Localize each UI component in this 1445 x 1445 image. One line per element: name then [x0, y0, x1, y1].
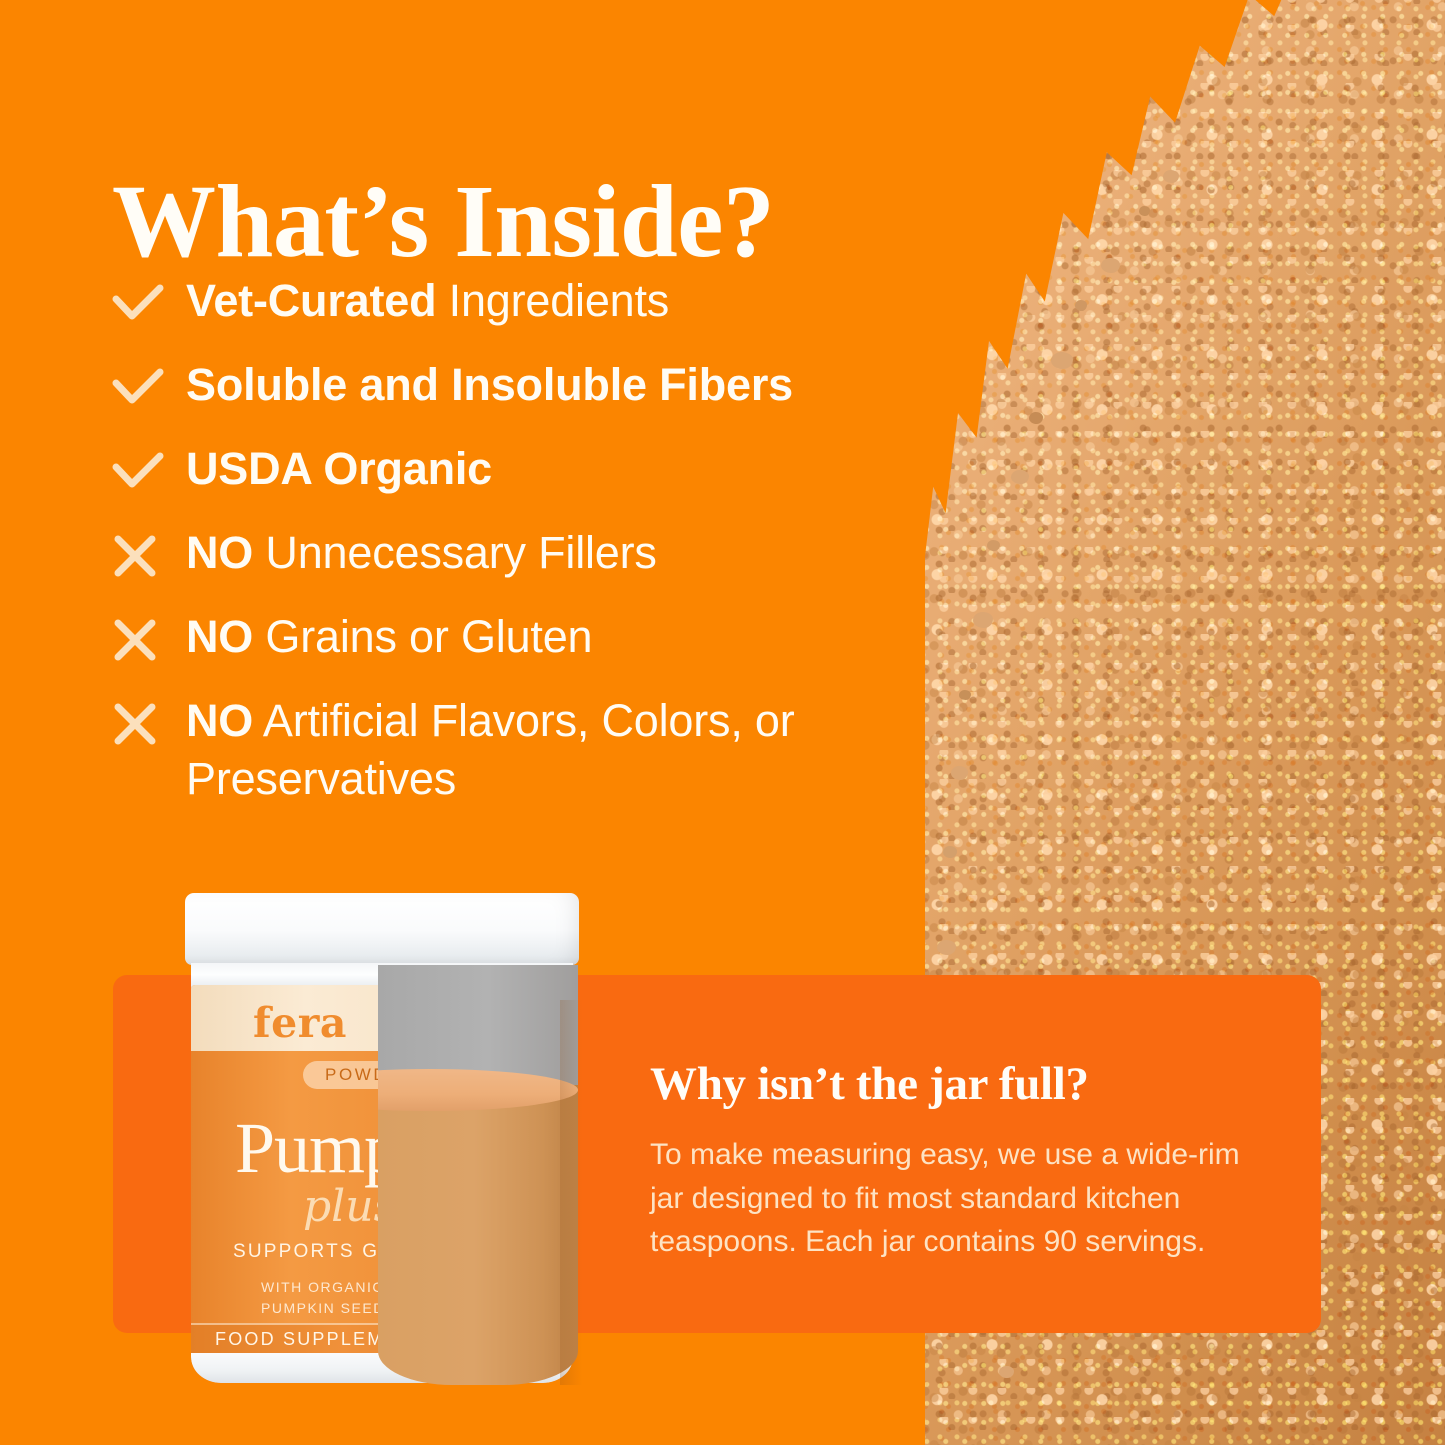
cross-icon	[112, 692, 186, 750]
powder-crumb	[943, 846, 957, 858]
page-title: What’s Inside?	[112, 166, 774, 278]
powder-crumb	[1029, 412, 1043, 424]
cross-icon	[112, 608, 186, 666]
check-icon	[112, 440, 186, 498]
feature-lead: Vet-Curated	[186, 275, 436, 326]
brand-name: fera	[253, 999, 347, 1047]
feature-rest: Ingredients	[436, 275, 669, 326]
powder-crumb	[1011, 470, 1029, 484]
list-item: NO Unnecessary Fillers	[112, 524, 992, 582]
powder-crumb	[999, 1366, 1014, 1378]
feature-lead: USDA Organic	[186, 443, 492, 494]
jar-lid	[185, 893, 579, 965]
powder-crumb	[1101, 258, 1120, 273]
feature-lead: NO	[186, 695, 253, 746]
feature-text: NO Artificial Flavors, Colors, or Preser…	[186, 692, 992, 807]
feature-text: USDA Organic	[186, 440, 492, 498]
product-claim-sub: WITH ORGANIC PUMPKIN SEED	[261, 1277, 385, 1319]
jar-powder-fill	[378, 1085, 578, 1385]
feature-lead: Soluble and Insoluble Fibers	[186, 359, 793, 410]
powder-crumb	[1051, 352, 1073, 369]
feature-text: Soluble and Insoluble Fibers	[186, 356, 793, 414]
feature-text: Vet-Curated Ingredients	[186, 272, 669, 330]
feature-text: NO Grains or Gluten	[186, 608, 592, 666]
claim-sub-line1: WITH ORGANIC	[261, 1277, 385, 1298]
claim-sub-line2: PUMPKIN SEED	[261, 1298, 385, 1319]
list-item: USDA Organic	[112, 440, 992, 498]
jar-cutaway-fill-level	[378, 965, 578, 1385]
powder-crumb	[1139, 206, 1150, 216]
feature-list: Vet-Curated Ingredients Soluble and Inso…	[112, 272, 992, 833]
powder-crumb	[1163, 170, 1179, 183]
list-item: NO Artificial Flavors, Colors, or Preser…	[112, 692, 992, 807]
info-card-title: Why isn’t the jar full?	[650, 1057, 1278, 1111]
list-item: Soluble and Insoluble Fibers	[112, 356, 992, 414]
list-item: Vet-Curated Ingredients	[112, 272, 992, 330]
info-card-body: To make measuring easy, we use a wide-ri…	[650, 1133, 1278, 1264]
check-icon	[112, 356, 186, 414]
product-infographic: What’s Inside? Vet-Curated Ingredients S…	[0, 0, 1445, 1445]
check-icon	[112, 272, 186, 330]
feature-rest: Grains or Gluten	[253, 611, 592, 662]
powder-crumb	[937, 940, 956, 955]
powder-crumb	[1075, 300, 1087, 311]
feature-lead: NO	[186, 611, 253, 662]
info-card-text: Why isn’t the jar full? To make measurin…	[650, 1057, 1278, 1264]
feature-lead: NO	[186, 527, 253, 578]
feature-rest: Artificial Flavors, Colors, or Preservat…	[186, 695, 795, 804]
feature-rest: Unnecessary Fillers	[253, 527, 657, 578]
cross-icon	[112, 524, 186, 582]
list-item: NO Grains or Gluten	[112, 608, 992, 666]
feature-text: NO Unnecessary Fillers	[186, 524, 657, 582]
